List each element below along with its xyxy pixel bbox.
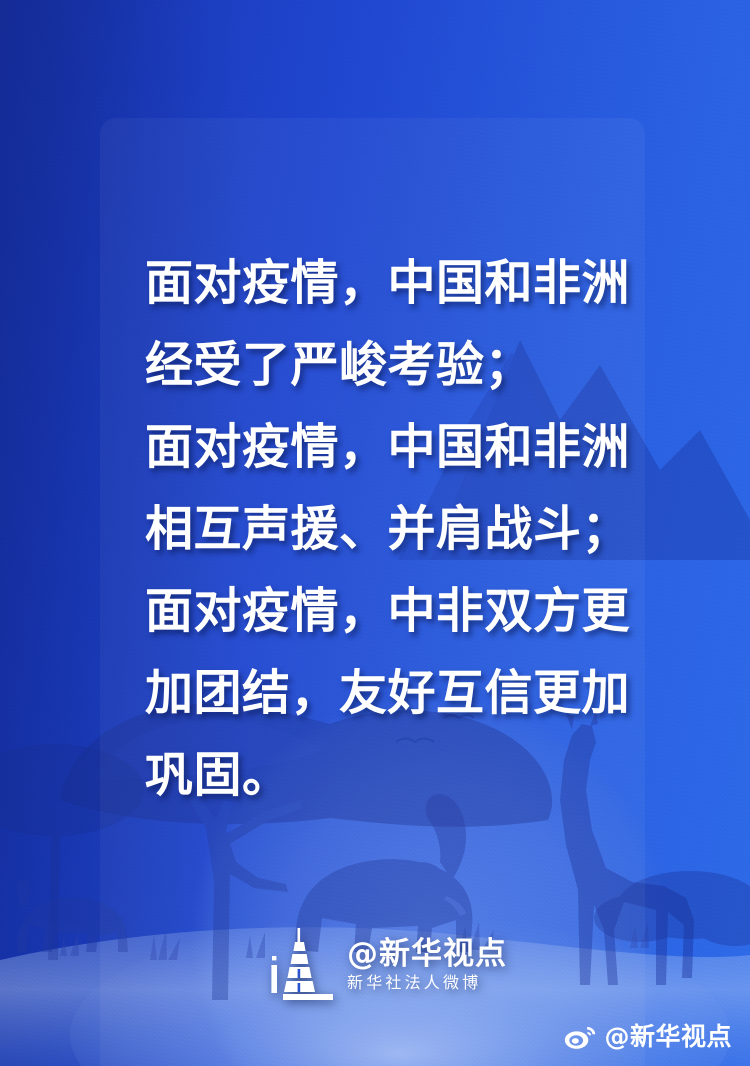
headline-block: 面对疫情，中国和非洲 经受了严峻考验； 面对疫情，中国和非洲 相互声援、并肩战斗… xyxy=(145,242,625,816)
headline-line-3: 面对疫情，中国和非洲 xyxy=(145,406,625,488)
acacia-tree-small xyxy=(0,744,144,960)
brand-text-group: @新华视点 新华社法人微博 xyxy=(347,937,507,992)
weibo-eye-icon xyxy=(564,1024,596,1050)
headline-line-7: 巩固。 xyxy=(145,734,625,816)
headline-line-6: 加团结，友好互信更加 xyxy=(145,652,625,734)
weibo-handle: @新华视点 xyxy=(604,1023,732,1050)
xinhua-brand-lockup: @新华视点 新华社法人微博 xyxy=(269,928,507,1000)
headline-line-2: 经受了严峻考验； xyxy=(145,324,625,406)
bush-cluster-right xyxy=(594,871,750,946)
headline-line-4: 相互声援、并肩战斗； xyxy=(145,488,625,570)
headline-line-1: 面对疫情，中国和非洲 xyxy=(145,242,625,324)
headline-line-5: 面对疫情，中非双方更 xyxy=(145,570,625,652)
xinhua-tower-logo xyxy=(269,928,335,1000)
brand-subtitle: 新华社法人微博 xyxy=(347,973,507,992)
poster-canvas: 面对疫情，中国和非洲 经受了严峻考验； 面对疫情，中国和非洲 相互声援、并肩战斗… xyxy=(0,0,750,1066)
weibo-watermark: @新华视点 xyxy=(564,1023,732,1050)
brand-title: @新华视点 xyxy=(347,937,507,971)
elephant-calf xyxy=(17,879,128,952)
